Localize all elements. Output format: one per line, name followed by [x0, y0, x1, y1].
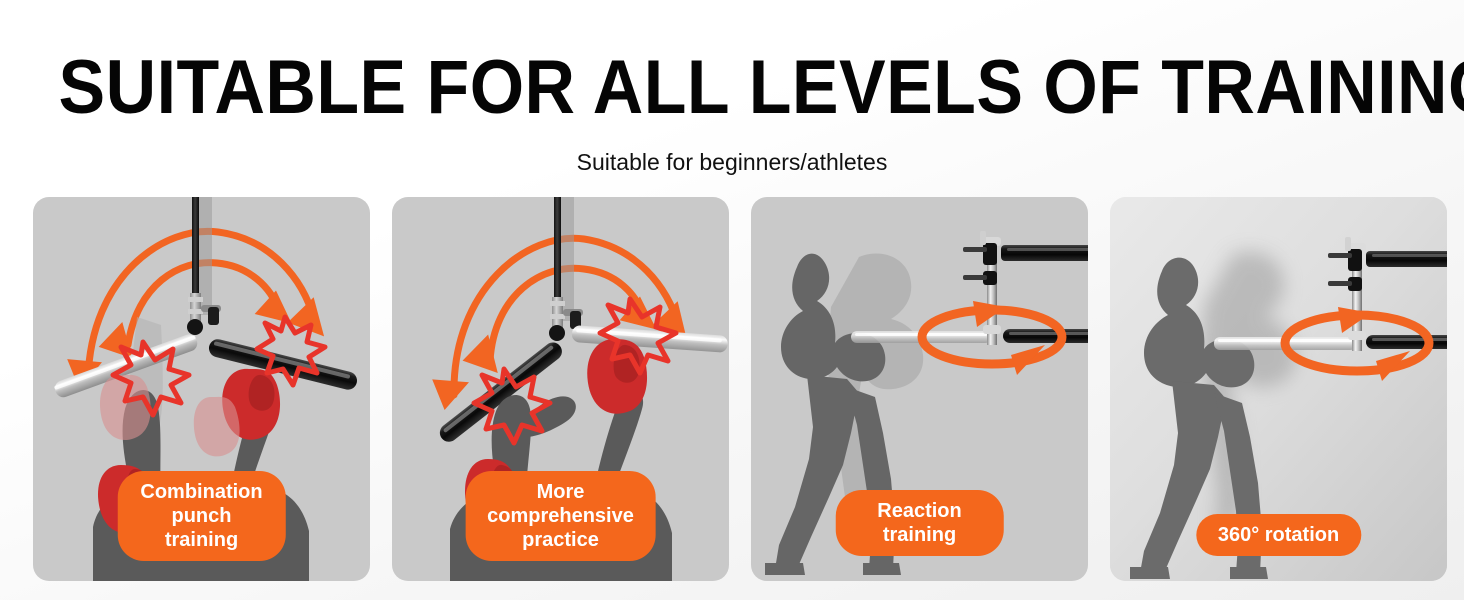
- panel-reaction-training[interactable]: Reaction training: [751, 197, 1088, 581]
- infographic-page: SUITABLE FOR ALL LEVELS OF TRAINING Suit…: [0, 0, 1464, 600]
- panel-more-comprehensive-practice[interactable]: More comprehensive practice: [392, 197, 729, 581]
- panel-caption-badge: Combination punch training: [117, 471, 286, 561]
- panel-360-rotation[interactable]: 360° rotation: [1110, 197, 1447, 581]
- page-title: SUITABLE FOR ALL LEVELS OF TRAINING: [59, 0, 1406, 129]
- header: SUITABLE FOR ALL LEVELS OF TRAINING Suit…: [0, 0, 1464, 176]
- panel-caption-badge: 360° rotation: [1196, 514, 1361, 556]
- page-subtitle: Suitable for beginners/athletes: [0, 129, 1464, 176]
- panel-caption-badge: More comprehensive practice: [465, 471, 656, 561]
- panel-caption-badge: Reaction training: [835, 490, 1004, 556]
- feature-panel-row: Combination punch training: [33, 197, 1433, 581]
- panel-combination-punch-training[interactable]: Combination punch training: [33, 197, 370, 581]
